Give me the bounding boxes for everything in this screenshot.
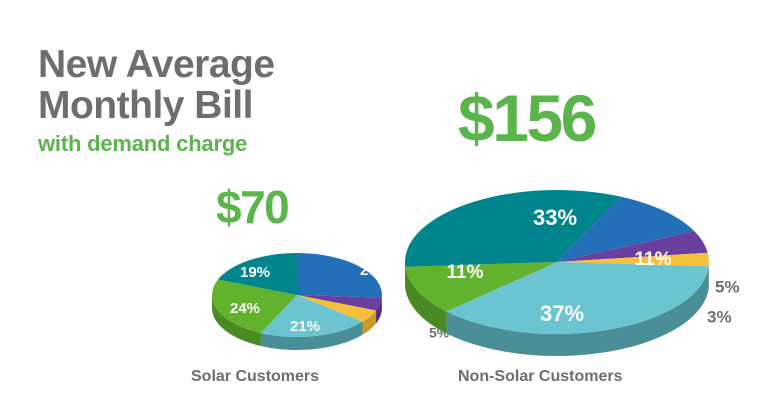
pie-slice-label-3: 21% bbox=[290, 318, 320, 335]
pie-slice-label-4: 24% bbox=[230, 300, 260, 317]
headline-subtitle: with demand charge bbox=[38, 132, 378, 156]
nonsolar-pie-svg: 11%5%3%37%11%33% bbox=[405, 170, 755, 350]
nonsolar-pie-chart: 11%5%3%37%11%33% bbox=[405, 170, 755, 350]
pie-slice-label-4: 11% bbox=[447, 262, 484, 283]
headline-block: New Average Monthly Bill with demand cha… bbox=[38, 44, 378, 156]
pie-slice-label-1: 5% bbox=[715, 277, 740, 296]
pie-slice-label-0: 11% bbox=[635, 249, 672, 270]
pie-slice-label-2: 3% bbox=[707, 307, 732, 326]
pie-slice-label-0: 26% bbox=[360, 262, 390, 279]
nonsolar-caption: Non-Solar Customers bbox=[458, 368, 622, 386]
pie-slice-label-5: 33% bbox=[533, 205, 577, 230]
pie-slice-label-3: 37% bbox=[540, 301, 584, 326]
infographic-canvas: New Average Monthly Bill with demand cha… bbox=[0, 0, 768, 417]
nonsolar-amount: $156 bbox=[458, 85, 595, 151]
pie-slice-label-5: 19% bbox=[240, 264, 270, 281]
solar-amount: $70 bbox=[216, 184, 288, 230]
headline-line-2: Monthly Bill bbox=[38, 85, 378, 126]
solar-pie-svg: 26%5%5%21%24%19% bbox=[207, 240, 382, 345]
solar-caption: Solar Customers bbox=[191, 368, 319, 386]
solar-pie-chart: 26%5%5%21%24%19% bbox=[207, 240, 382, 345]
headline-line-1: New Average bbox=[38, 44, 378, 85]
